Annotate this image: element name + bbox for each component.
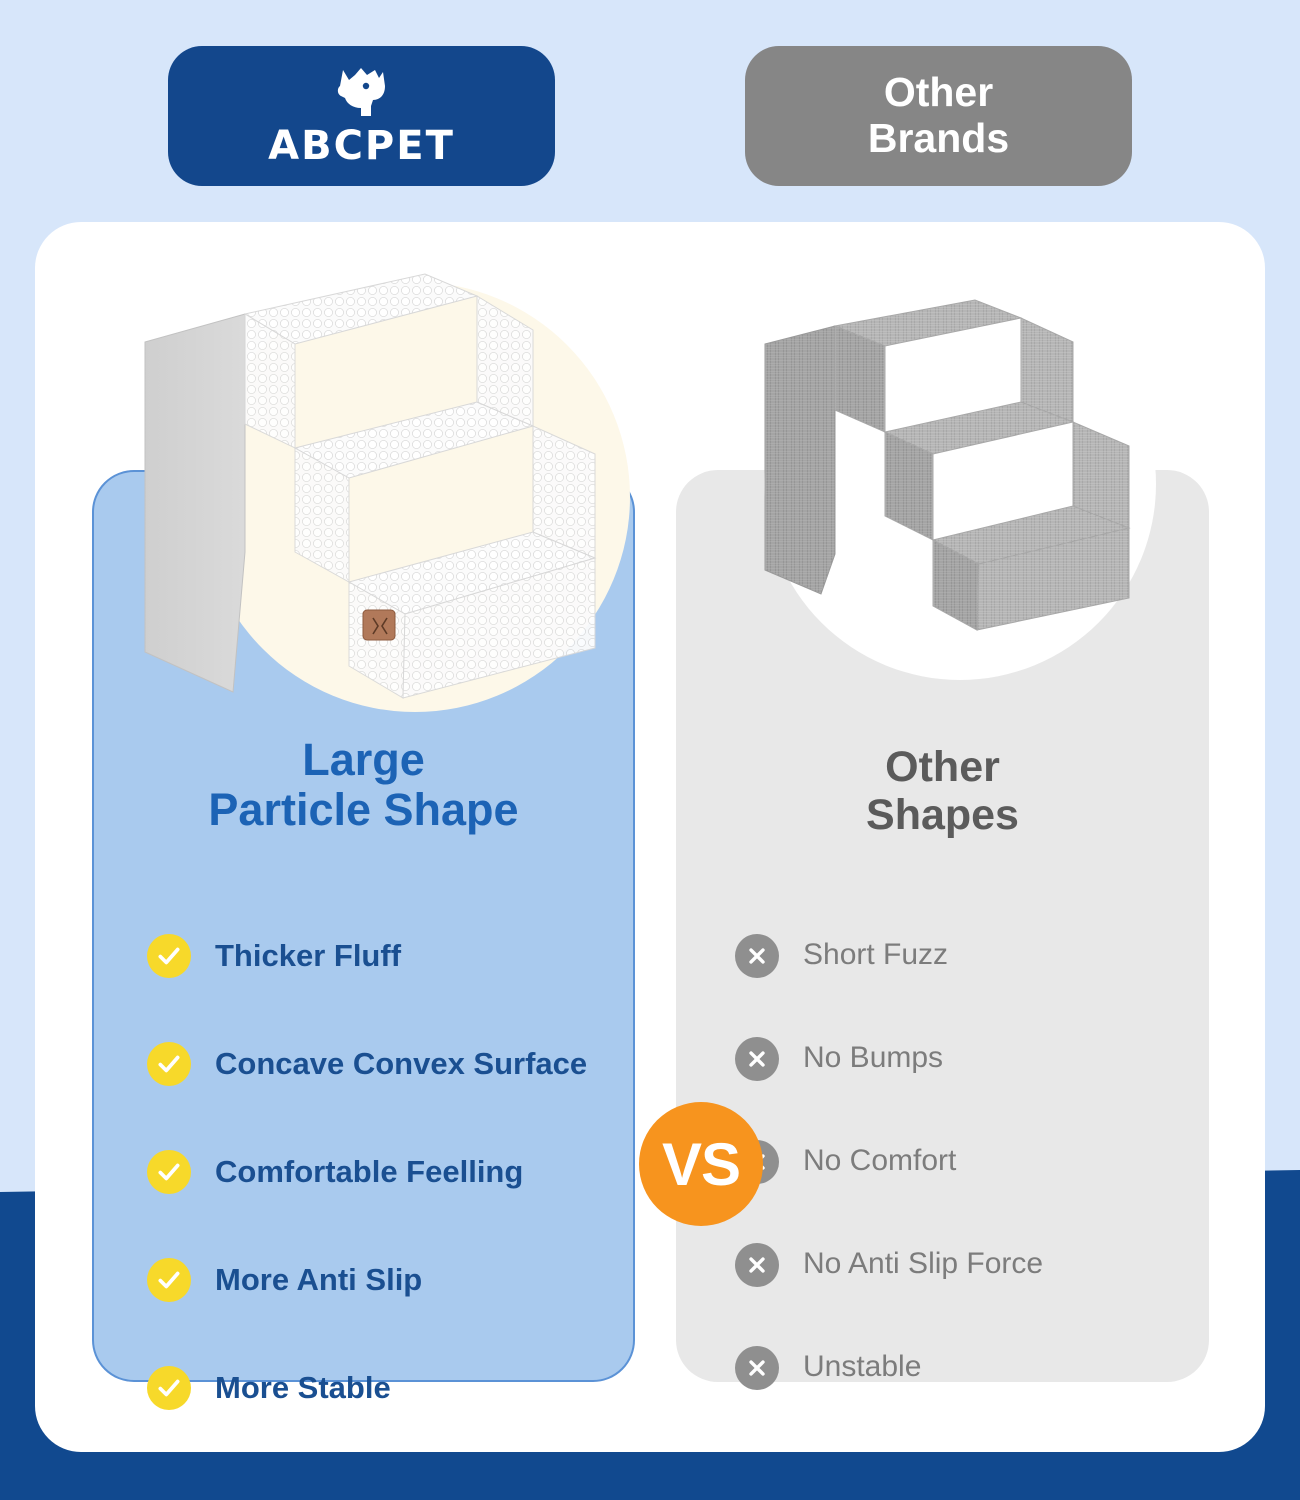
list-item: Concave Convex Surface	[147, 1010, 617, 1118]
list-item: No Bumps	[735, 1007, 1205, 1110]
list-item: No Anti Slip Force	[735, 1213, 1205, 1316]
brand-name: ABCPET	[268, 126, 455, 166]
list-item: More Stable	[147, 1334, 617, 1442]
right-heading-line1: Other	[676, 743, 1209, 791]
left-heading-line1: Large	[92, 735, 635, 785]
comparison-columns: Large Particle Shape Other Shapes Thicke…	[35, 222, 1265, 1452]
feature-label: More Anti Slip	[215, 1262, 422, 1297]
check-icon	[147, 1258, 191, 1302]
check-icon	[147, 934, 191, 978]
competitor-title-line2: Brands	[868, 115, 1009, 161]
feature-label: More Stable	[215, 1370, 391, 1405]
list-item: Short Fuzz	[735, 904, 1205, 1007]
feature-label: No Anti Slip Force	[803, 1247, 1043, 1281]
left-column-heading: Large Particle Shape	[92, 735, 635, 836]
list-item: No Comfort	[735, 1110, 1205, 1213]
right-heading-line2: Shapes	[676, 791, 1209, 839]
feature-label: Unstable	[803, 1350, 921, 1384]
check-icon	[147, 1366, 191, 1410]
dog-head-icon	[331, 66, 393, 124]
list-item: Comfortable Feelling	[147, 1118, 617, 1226]
cross-icon	[735, 1037, 779, 1081]
cross-icon	[735, 934, 779, 978]
check-icon	[147, 1042, 191, 1086]
product-image-abcpet	[125, 252, 665, 722]
vs-badge: VS	[639, 1102, 763, 1226]
right-column-heading: Other Shapes	[676, 743, 1209, 839]
check-icon	[147, 1150, 191, 1194]
left-feature-list: Thicker Fluff Concave Convex Surface Com…	[147, 902, 617, 1442]
feature-label: No Comfort	[803, 1144, 956, 1178]
list-item: More Anti Slip	[147, 1226, 617, 1334]
feature-label: Short Fuzz	[803, 938, 948, 972]
feature-label: Thicker Fluff	[215, 938, 401, 973]
brand-badge: ABCPET	[168, 46, 555, 186]
feature-label: No Bumps	[803, 1041, 943, 1075]
comparison-header: ABCPET Other Brands	[0, 46, 1300, 191]
list-item: Thicker Fluff	[147, 902, 617, 1010]
competitor-badge: Other Brands	[745, 46, 1132, 186]
competitor-title-line1: Other	[884, 69, 993, 115]
right-feature-list: Short Fuzz No Bumps No Comfort No Anti S…	[735, 904, 1205, 1419]
feature-label: Comfortable Feelling	[215, 1154, 523, 1189]
feature-label: Concave Convex Surface	[215, 1046, 587, 1081]
product-image-other-brand	[725, 284, 1195, 684]
cross-icon	[735, 1346, 779, 1390]
left-heading-line2: Particle Shape	[92, 785, 635, 835]
list-item: Unstable	[735, 1316, 1205, 1419]
cross-icon	[735, 1243, 779, 1287]
